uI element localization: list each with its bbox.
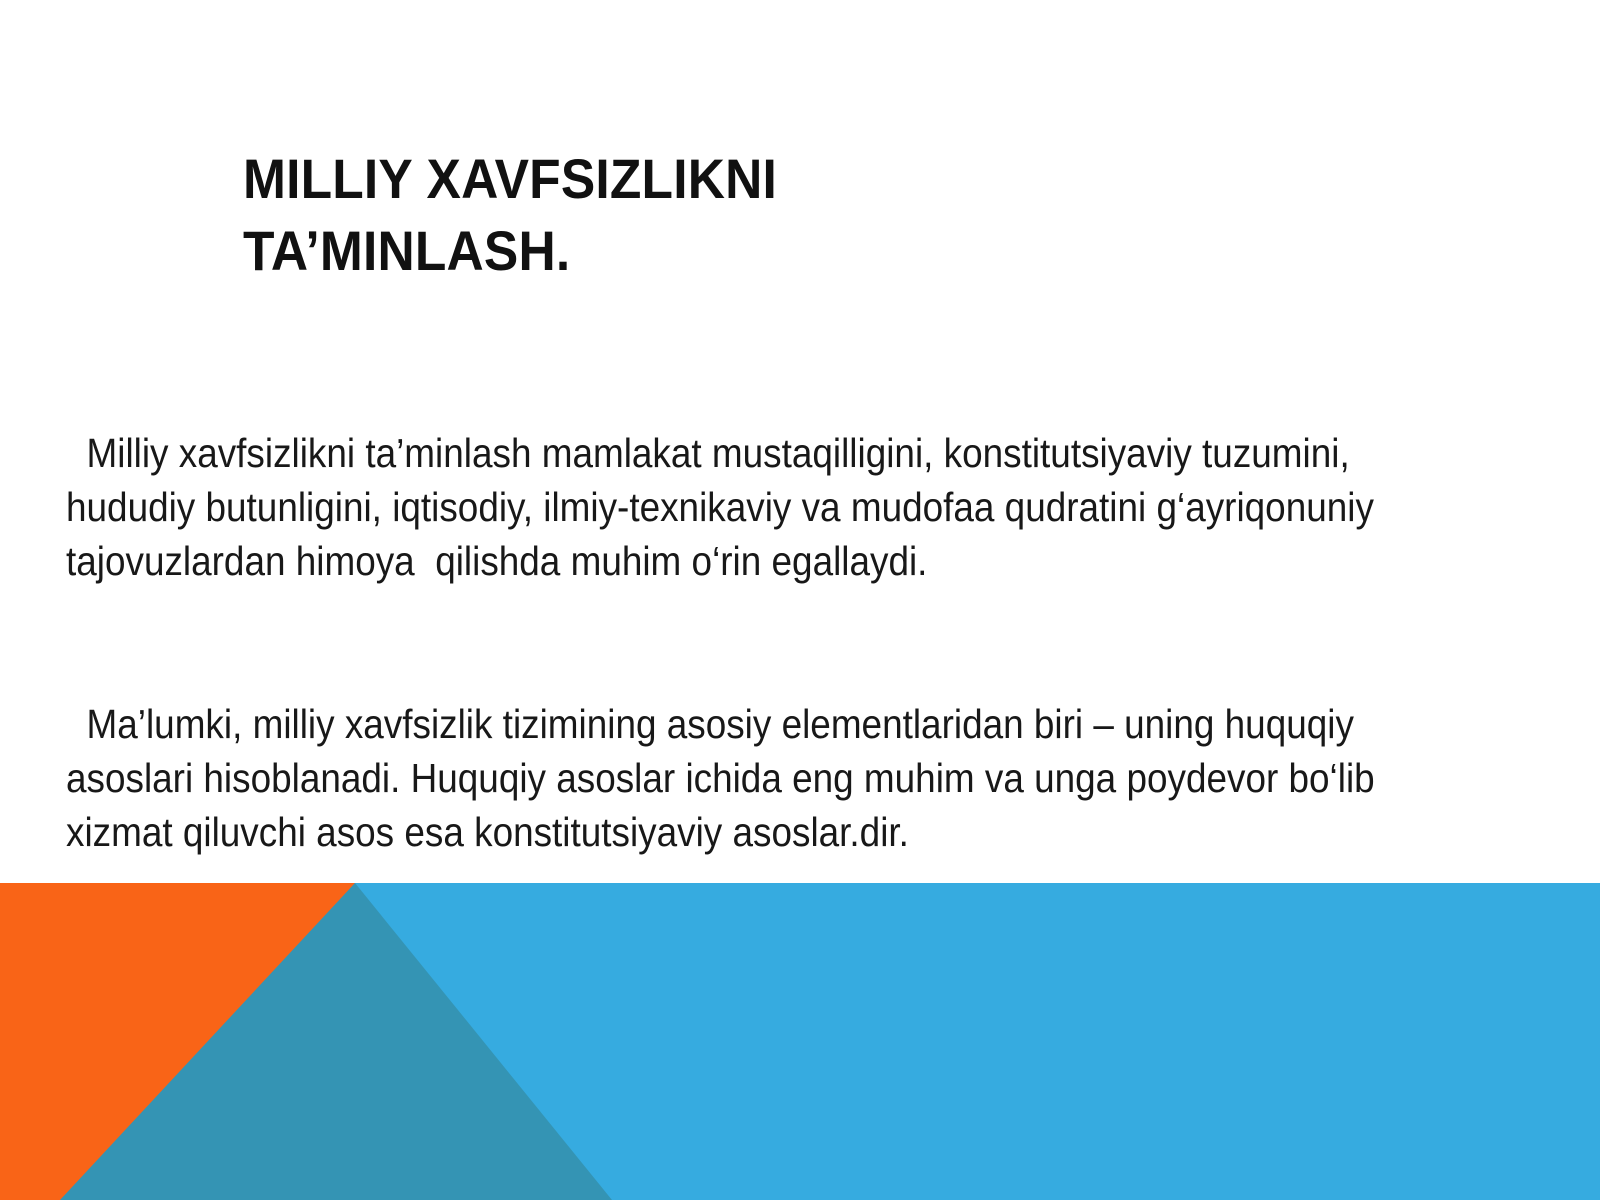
body-paragraph-2: Ma’lumki, milliy xavfsizlik tizimining a… — [66, 697, 1398, 859]
body-paragraph-1: Milliy xavfsizlikni ta’minlash mamlakat … — [66, 426, 1398, 588]
slide-title: MILLIY XAVFSIZLIKNI TA’MINLASH. — [243, 143, 1255, 289]
presentation-slide: MILLIY XAVFSIZLIKNI TA’MINLASH. Milliy x… — [0, 0, 1600, 1200]
footer-decoration — [0, 883, 1600, 1200]
footer-shapes-svg — [0, 883, 1600, 1200]
slide-body-text: Milliy xavfsizlikni ta’minlash mamlakat … — [66, 318, 1398, 967]
